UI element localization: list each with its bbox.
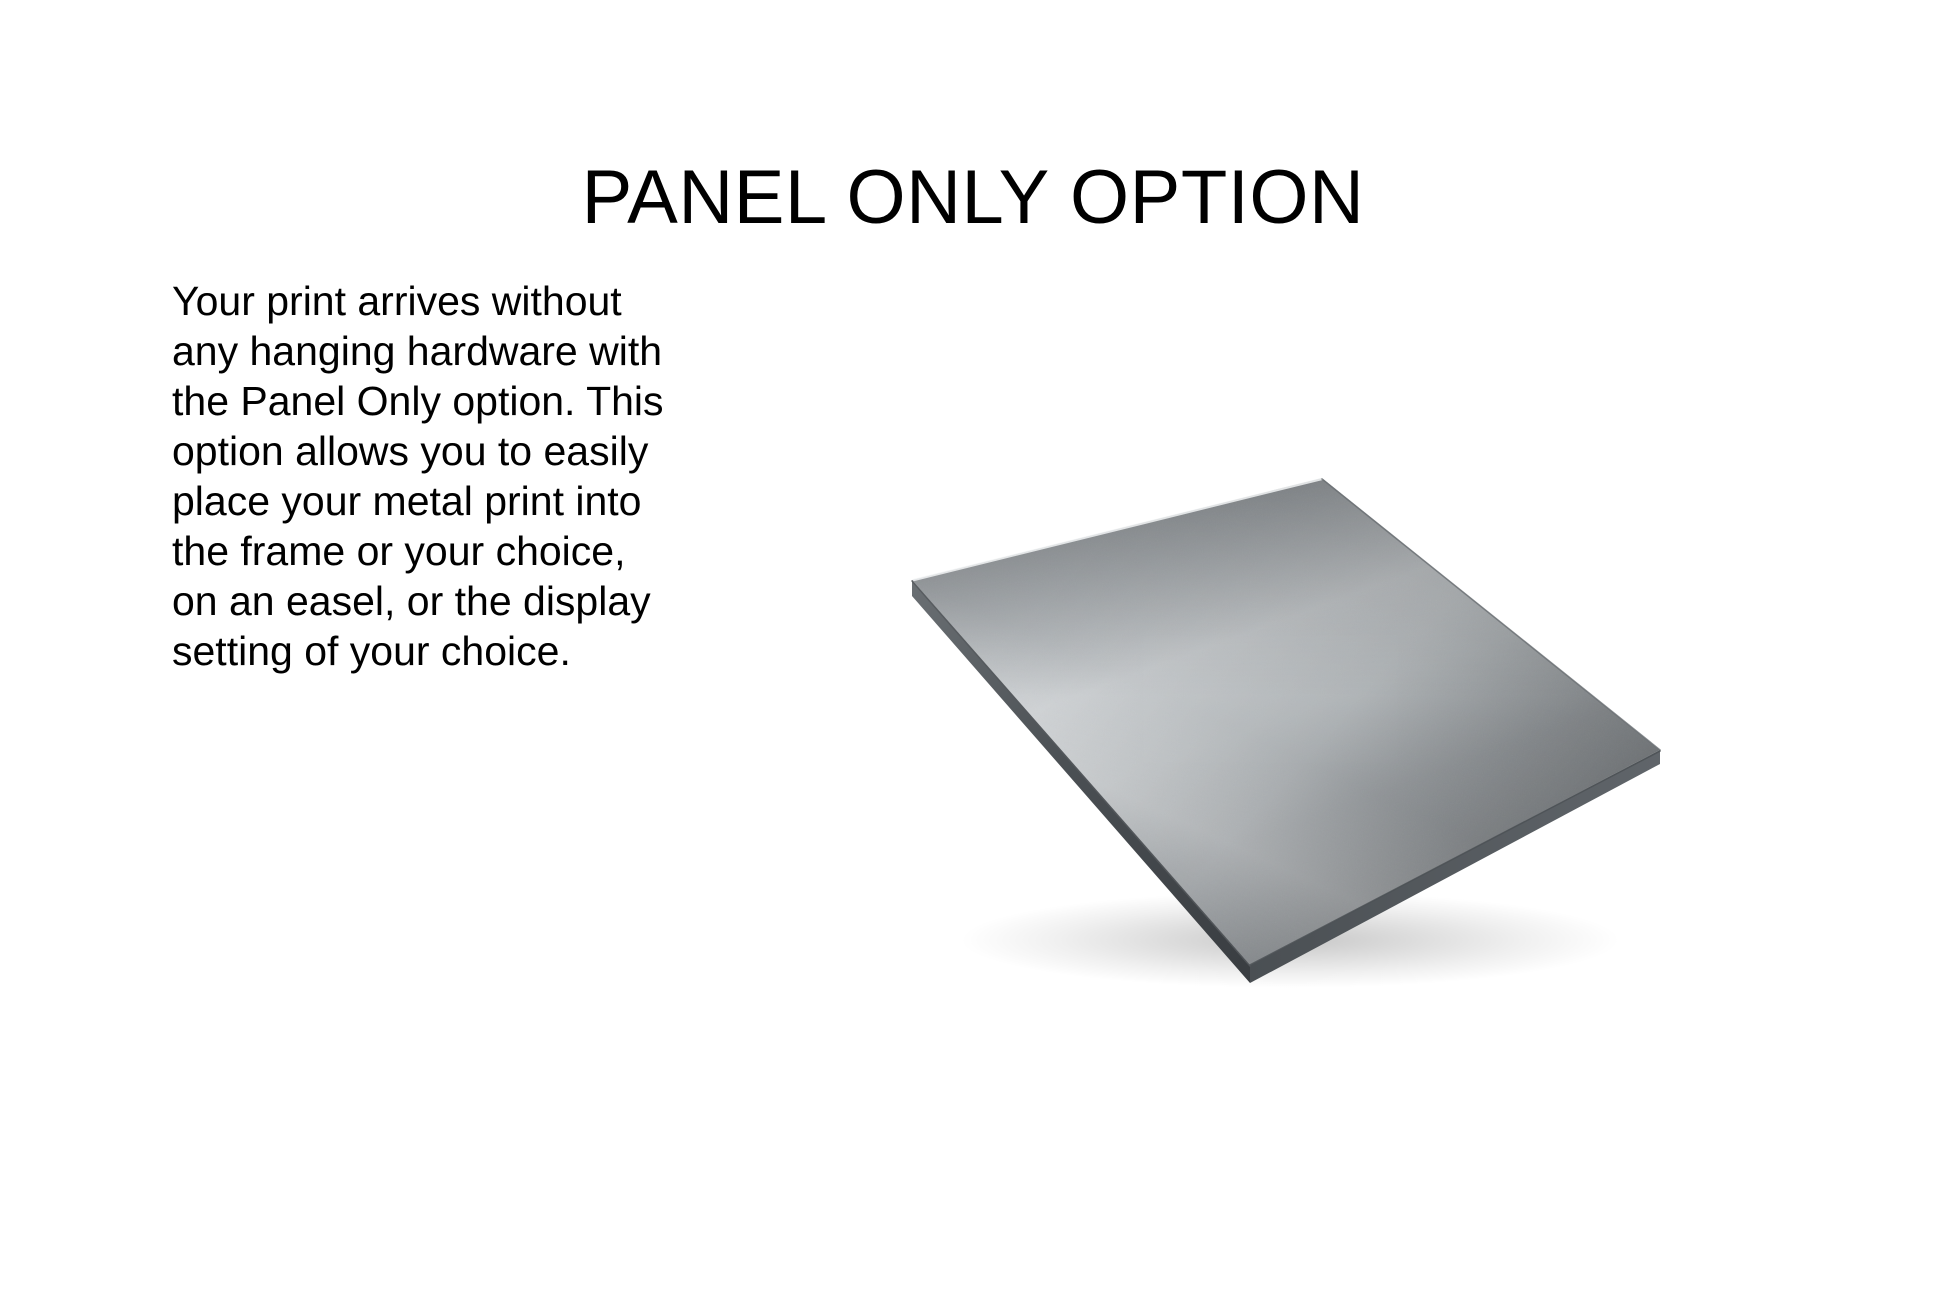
slide-canvas: PANEL ONLY OPTION Your print arrives wit…	[0, 0, 1946, 1297]
metal-panel-image	[860, 420, 1720, 1040]
metal-panel-illustration	[860, 420, 1720, 1040]
body-paragraph: Your print arrives without any hanging h…	[172, 276, 672, 676]
page-title: PANEL ONLY OPTION	[0, 155, 1946, 241]
